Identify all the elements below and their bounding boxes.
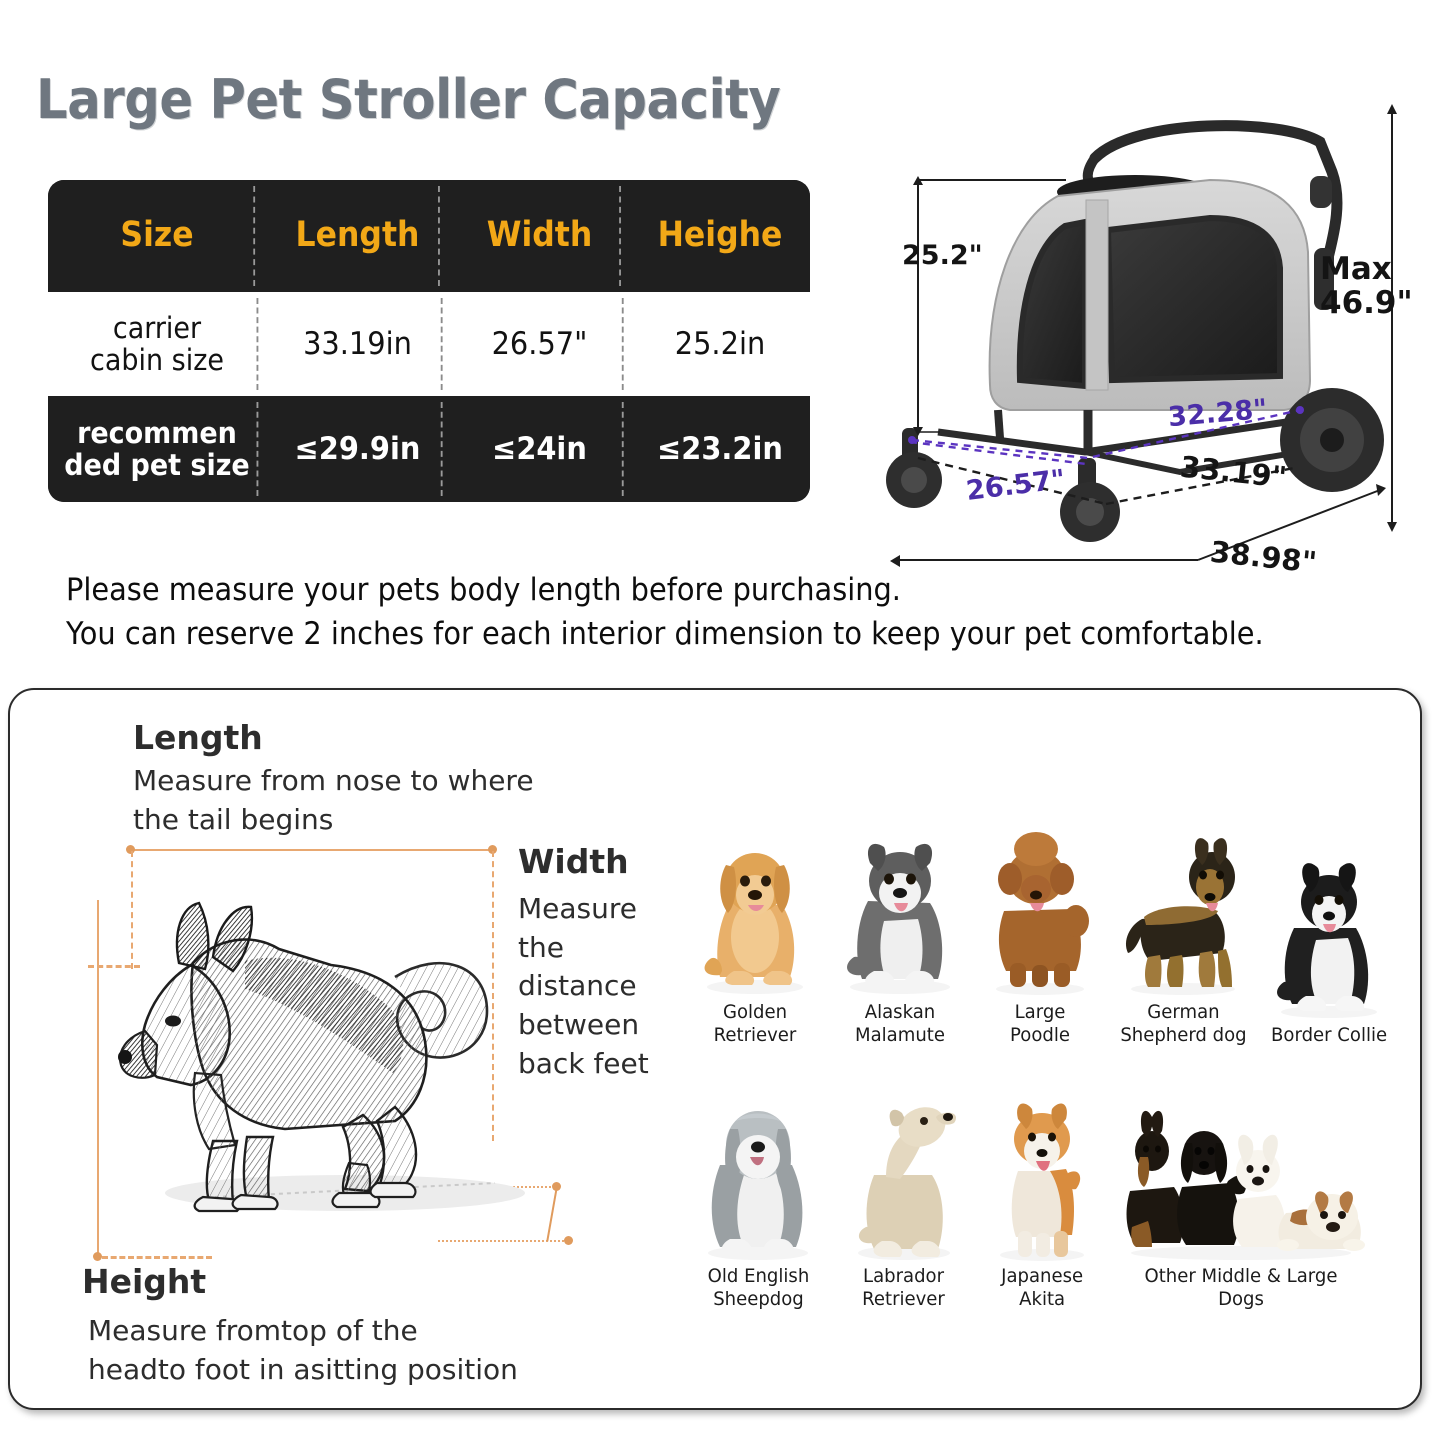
length-heading: Length	[133, 718, 263, 757]
instruction-line-2: You can reserve 2 inches for each interi…	[66, 612, 1312, 656]
japanese-akita-photo	[984, 1095, 1100, 1261]
labrador-retriever-photo	[842, 1095, 966, 1261]
breed-label: Labrador Retriever	[863, 1265, 946, 1310]
cabin-size-width: 26.57"	[455, 292, 623, 396]
breed-large-poodle: Large Poodle	[980, 825, 1100, 1046]
large-poodle-photo	[980, 825, 1100, 997]
breed-golden-retriever: Golden Retriever	[690, 825, 820, 1046]
breed-other-dogs: Other Middle & Large Dogs	[1116, 1095, 1366, 1310]
breed-label: Old English Sheepdog	[707, 1265, 809, 1310]
stroller-diagram: 25.2" Max 46.9" 32.28" 26.57" 33.19" 38.…	[880, 80, 1420, 600]
pet-size-width: ≤24in	[455, 396, 623, 502]
breed-old-english-sheepdog: Old English Sheepdog	[690, 1095, 826, 1310]
breed-labrador-retriever: Labrador Retriever	[840, 1095, 968, 1310]
spec-table: Size Length Width Heighe carrier cabin s…	[48, 180, 810, 502]
cabin-size-label: carrier cabin size	[56, 292, 259, 396]
table-header-height: Heighe	[639, 180, 801, 292]
pet-size-label: recommen ded pet size	[56, 396, 259, 502]
breed-row-2: Old English Sheepdog Labrador	[690, 1090, 1390, 1310]
german-shepherd-photo	[1114, 825, 1252, 997]
dim-max-handle-height: Max 46.9"	[1320, 252, 1413, 320]
width-heading: Width	[518, 842, 629, 881]
breed-alaskan-malamute: Alaskan Malamute	[834, 825, 966, 1046]
height-description: Measure fromtop of the headto foot in as…	[88, 1312, 538, 1389]
dim-cabin-height: 25.2"	[902, 240, 983, 271]
cabin-size-height: 25.2in	[636, 292, 803, 396]
breed-label: Japanese Akita	[1001, 1265, 1083, 1310]
breed-japanese-akita: Japanese Akita	[982, 1095, 1102, 1310]
height-heading: Height	[82, 1262, 206, 1301]
breed-label: Large Poodle	[983, 1001, 1097, 1046]
breed-row-1: Golden Retriever	[690, 826, 1390, 1046]
alaskan-malamute-photo	[834, 825, 966, 997]
table-row: carrier cabin size 33.19in 26.57" 25.2in	[48, 292, 810, 396]
table-row: recommen ded pet size ≤29.9in ≤24in ≤23.…	[48, 396, 810, 502]
breed-german-shepherd: German Shepherd dog	[1114, 825, 1252, 1046]
breed-border-collie: Border Collie	[1266, 848, 1392, 1046]
instruction-line-1: Please measure your pets body length bef…	[66, 568, 1312, 612]
table-header-row: Size Length Width Heighe	[48, 180, 810, 292]
breed-label: Golden Retriever	[693, 1001, 817, 1046]
page-title: Large Pet Stroller Capacity	[36, 68, 780, 131]
breed-label: Border Collie	[1271, 1024, 1387, 1046]
pet-size-length: ≤29.9in	[272, 396, 442, 502]
width-description: Measure the distance between back feet	[518, 890, 688, 1083]
other-dogs-group-photo	[1116, 1095, 1366, 1261]
table-header-length: Length	[275, 180, 440, 292]
breed-label: Alaskan Malamute	[837, 1001, 962, 1046]
border-collie-photo	[1266, 848, 1392, 1020]
table-header-size: Size	[59, 180, 255, 292]
breed-label: German Shepherd dog	[1120, 1001, 1246, 1046]
instructions: Please measure your pets body length bef…	[66, 568, 1406, 656]
pet-size-height: ≤23.2in	[636, 396, 803, 502]
golden-retriever-photo	[690, 825, 820, 997]
dog-measurement-illustration	[95, 845, 575, 1265]
old-english-sheepdog-photo	[692, 1095, 824, 1261]
table-header-width: Width	[458, 180, 621, 292]
cabin-size-length: 33.19in	[272, 292, 442, 396]
length-description: Measure from nose to where the tail begi…	[133, 762, 563, 839]
dog-sketch-svg	[95, 845, 575, 1265]
breed-gallery: Golden Retriever	[690, 826, 1390, 1346]
breed-label: Other Middle & Large Dogs	[1122, 1265, 1360, 1310]
stroller-illustration-svg	[880, 80, 1420, 600]
